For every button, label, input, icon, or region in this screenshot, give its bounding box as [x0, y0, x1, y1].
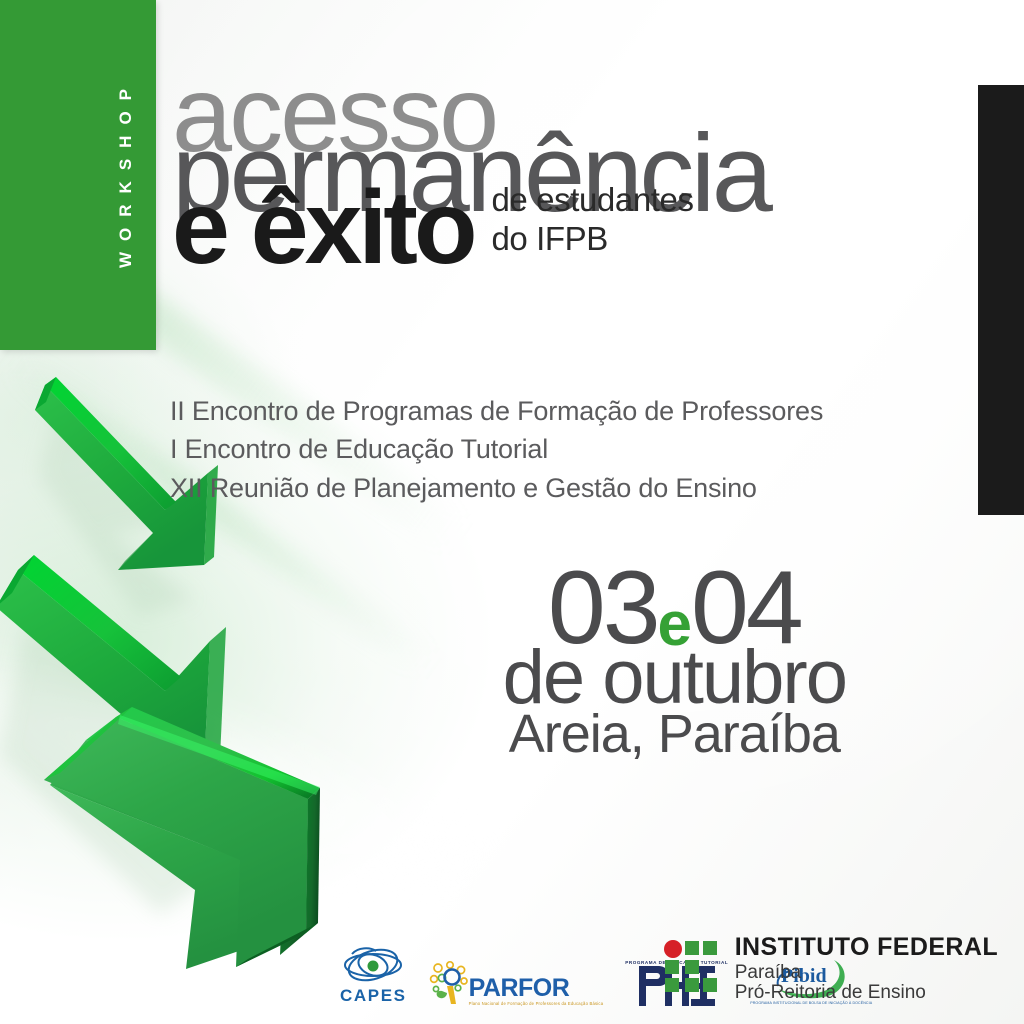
institution-line1: INSTITUTO FEDERAL — [735, 935, 998, 960]
headline-subtitle-line1: de estudantes — [491, 181, 693, 220]
event-poster: WORKSHOP acesso permanência e êxito de e… — [0, 0, 1024, 1024]
logo-parfor: PARFOR Plano Nacional de Formação de Pro… — [429, 960, 604, 1006]
parfor-bubbles-icon — [429, 960, 469, 1006]
event-list-item: XII Reunião de Planejamento e Gestão do … — [170, 469, 990, 507]
poster-headline: acesso permanência e êxito de estudantes… — [172, 68, 982, 275]
institution-text: INSTITUTO FEDERAL Paraíba Pró-Reitoria d… — [735, 935, 998, 1002]
capes-wordmark: CAPES — [340, 986, 407, 1006]
parfor-wordmark: PARFOR — [469, 978, 604, 999]
date-block: 03e04 de outubro Areia, Paraíba — [503, 565, 846, 760]
ifpb-grid-icon — [664, 940, 722, 998]
workshop-label: WORKSHOP — [117, 78, 134, 268]
headline-subtitle-line2: do IFPB — [491, 220, 693, 259]
headline-subtitle: de estudantes do IFPB — [491, 181, 693, 259]
headline-line-exito: e êxito — [172, 182, 473, 276]
event-list-item: II Encontro de Programas de Formação de … — [170, 392, 990, 430]
headline-line-exito-row: e êxito de estudantes do IFPB — [172, 181, 982, 275]
institution-logo: INSTITUTO FEDERAL Paraíba Pró-Reitoria d… — [664, 935, 998, 1002]
event-list: II Encontro de Programas de Formação de … — [170, 392, 990, 507]
event-list-item: I Encontro de Educação Tutorial — [170, 430, 990, 468]
parfor-lockup: PARFOR Plano Nacional de Formação de Pro… — [429, 960, 604, 1006]
parfor-tagline: Plano Nacional de Formação de Professore… — [469, 1001, 604, 1006]
parfor-text-block: PARFOR Plano Nacional de Formação de Pro… — [469, 978, 604, 1006]
institution-line3: Pró-Reitoria de Ensino — [735, 983, 998, 1002]
institution-line2: Paraíba — [735, 963, 998, 982]
capes-orbit-icon — [340, 945, 406, 985]
chevron-large — [44, 707, 320, 975]
event-location: Areia, Paraíba — [503, 709, 846, 760]
workshop-badge: WORKSHOP — [103, 78, 147, 336]
date-month: de outubro — [503, 644, 846, 712]
logo-capes: CAPES — [340, 945, 407, 1006]
